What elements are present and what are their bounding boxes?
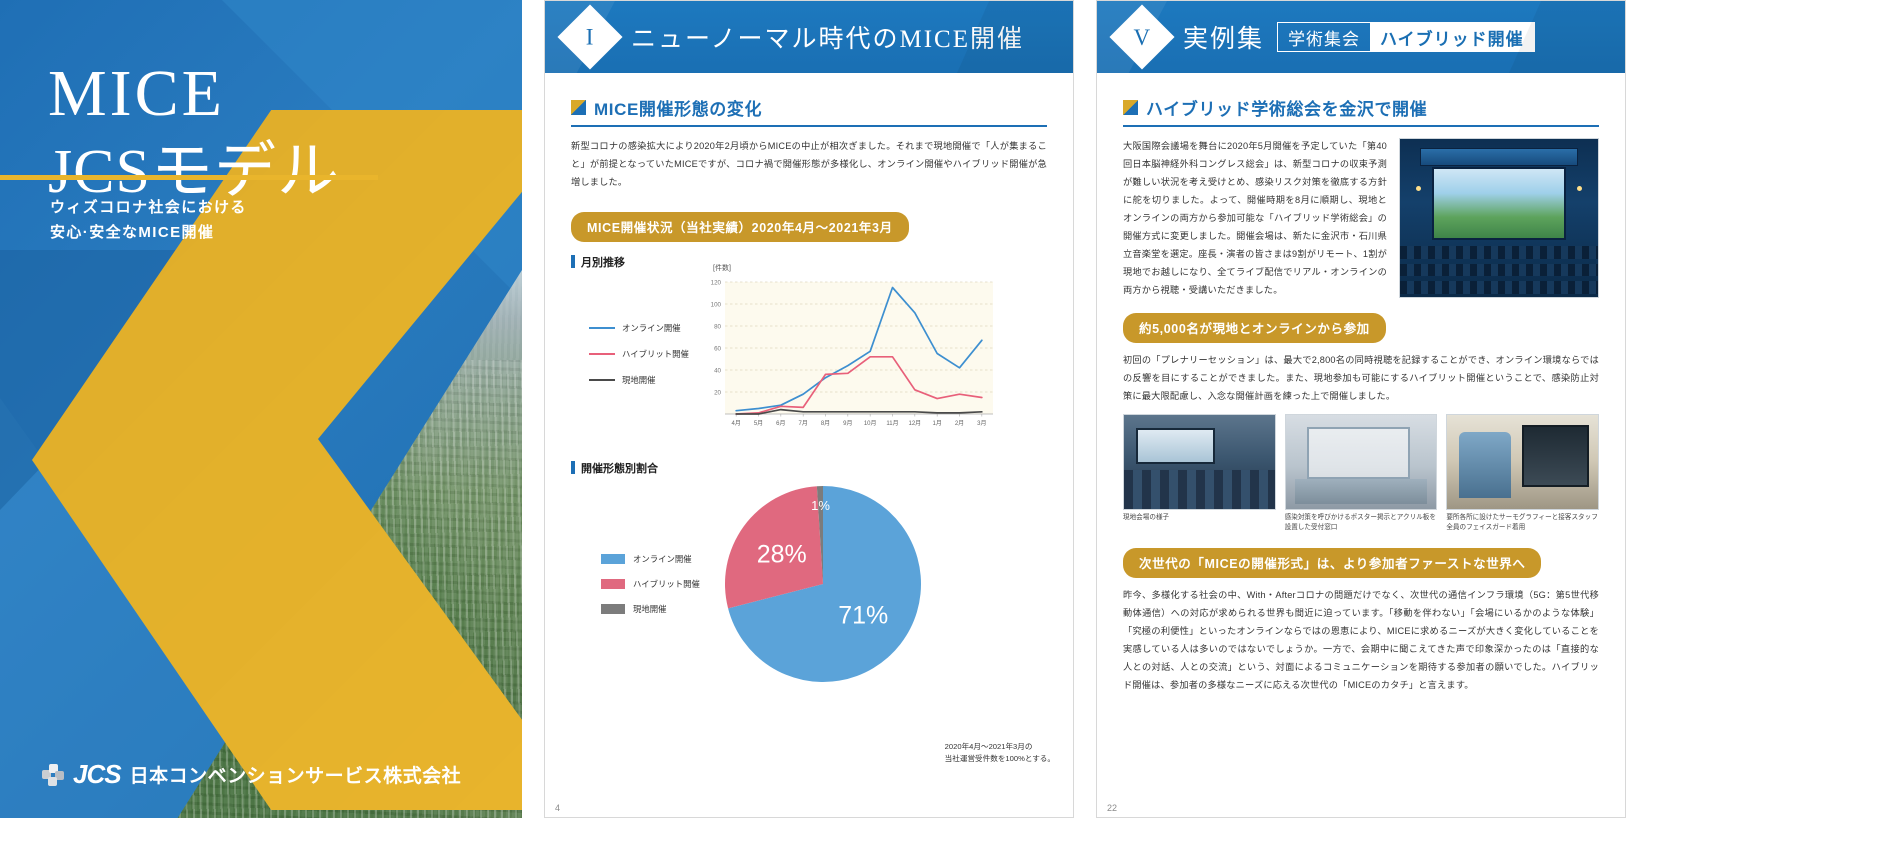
page-mid-header-title: ニューノーマル時代のMICE開催 (631, 19, 1024, 55)
pie-note-line2: 当社運営受件数を100%とする。 (945, 753, 1055, 765)
page-right-header-title: 実例集 (1183, 19, 1264, 55)
legend-label: オンライン開催 (633, 553, 692, 565)
section-body-text: 新型コロナの感染拡大により2020年2月頃からMICEの中止が相次ぎました。それ… (571, 138, 1047, 192)
svg-text:120: 120 (711, 279, 722, 286)
svg-text:11月: 11月 (886, 420, 898, 427)
line-chart-block: オンライン開催 ハイブリット開催 現地開催 [件数] 2040608010012… (571, 274, 1047, 434)
legend-swatch-onsite-icon (601, 604, 625, 614)
section-heading-row: ハイブリッド学術総会を金沢で開催 (1123, 95, 1599, 120)
jcs-clover-icon (42, 764, 64, 786)
cover-subtitle: ウィズコロナ社会における 安心·安全なMICE開催 (50, 196, 247, 246)
chapter-numeral-diamond: I (557, 4, 622, 69)
svg-text:71%: 71% (838, 602, 888, 630)
legend-label: ハイブリット開催 (622, 348, 689, 360)
svg-text:4月: 4月 (731, 420, 740, 427)
chapter-numeral-diamond: V (1109, 4, 1174, 69)
case-body3: 昨今、多様化する社会の中、With・Afterコロナの問題だけでなく、次世代の通… (1123, 587, 1599, 695)
pie-sub-heading: 開催形態別割合 (581, 460, 658, 476)
photo-gallery: 現地会場の様子 感染対策を呼びかけるポスター掲示とアクリル板を設置した受付窓口 … (1123, 414, 1599, 532)
case-intro-body: 大阪国際会議場を舞台に2020年5月開催を予定していた「第40回日本脳神経外科コ… (1123, 138, 1387, 299)
legend-item: ハイブリット開催 (601, 572, 721, 597)
photo-lamp-icon (1577, 186, 1582, 191)
legend-line-hybrid-icon (589, 353, 615, 356)
svg-text:10月: 10月 (864, 420, 877, 427)
legend-label: オンライン開催 (622, 322, 681, 334)
legend-item: 現地開催 (601, 597, 721, 622)
svg-text:6月: 6月 (776, 420, 785, 427)
band3-row: 次世代の「MICEの開催形式」は、より参加者ファーストな世界へ (1123, 548, 1599, 578)
pie-chart-legend: オンライン開催 ハイブリット開催 現地開催 (571, 547, 721, 622)
photo-thermo (1446, 414, 1599, 510)
photo-lamp-icon (1416, 186, 1421, 191)
gallery-item: 感染対策を呼びかけるポスター掲示とアクリル板を設置した受付窓口 (1285, 414, 1438, 532)
photo-seat-row (1400, 246, 1598, 259)
legend-label: ハイブリット開催 (633, 578, 700, 590)
page-number: 4 (555, 803, 560, 813)
pie-chart-block: オンライン開催 ハイブリット開催 現地開催 71%28%1% (571, 482, 1047, 687)
photo-caption: 感染対策を呼びかけるポスター掲示とアクリル板を設置した受付窓口 (1285, 513, 1438, 532)
document-spread: MICE JCSモデル ウィズコロナ社会における 安心·安全なMICE開催 JC… (0, 0, 1886, 857)
legend-item: ハイブリット開催 (589, 341, 699, 367)
page-number: 22 (1107, 803, 1117, 813)
svg-text:20: 20 (714, 389, 721, 396)
line-chart-legend: オンライン開催 ハイブリット開催 現地開催 (571, 315, 699, 393)
pie-sub-heading-row: 開催形態別割合 (571, 460, 1047, 476)
photo-seat-row (1400, 281, 1598, 294)
chapter-numeral: I (586, 25, 594, 48)
band2-label: 約5,000名が現地とオンラインから参加 (1123, 313, 1386, 343)
cover-title-line1: MICE (48, 54, 340, 135)
sub-heading-marker-icon (571, 255, 575, 268)
section-underline (571, 125, 1047, 127)
section-heading: ハイブリッド学術総会を金沢で開催 (1146, 95, 1427, 120)
band3-label: 次世代の「MICEの開催形式」は、より参加者ファーストな世界へ (1123, 548, 1541, 578)
svg-text:60: 60 (714, 345, 721, 352)
photo-caption: 現地会場の様子 (1123, 513, 1276, 523)
svg-text:40: 40 (714, 367, 721, 374)
legend-line-online-icon (589, 327, 615, 330)
cover-subtitle-line2: 安心·安全なMICE開催 (50, 221, 247, 246)
legend-label: 現地開催 (633, 603, 667, 615)
jcs-logo-company: 日本コンベンションサービス株式会社 (130, 761, 462, 788)
sub-heading-marker-icon (571, 461, 575, 474)
page-mid-body: MICE開催形態の変化 新型コロナの感染拡大により2020年2月頃からMICEの… (545, 73, 1073, 818)
photo-reception (1285, 414, 1438, 510)
legend-item: オンライン開催 (589, 315, 699, 341)
legend-swatch-hybrid-icon (601, 579, 625, 589)
svg-text:28%: 28% (757, 540, 807, 568)
cover-title: MICE JCSモデル (48, 54, 340, 210)
header-tag-category: 学術集会 (1278, 23, 1370, 51)
cover-page: MICE JCSモデル ウィズコロナ社会における 安心·安全なMICE開催 JC… (0, 0, 522, 818)
svg-text:1%: 1% (811, 498, 830, 513)
gallery-item: 現地会場の様子 (1123, 414, 1276, 532)
chapter-numeral: V (1134, 26, 1151, 49)
pie-note-line1: 2020年4月〜2021年3月の (945, 741, 1055, 753)
svg-text:5月: 5月 (754, 420, 763, 427)
svg-text:1月: 1月 (932, 420, 941, 427)
line-chart-sub-heading-row: 月別推移 (571, 254, 1047, 270)
page-mid-header: I ニューノーマル時代のMICE開催 (545, 1, 1073, 73)
chart-band-label: MICE開催状況（当社実績）2020年4月〜2021年3月 (571, 212, 909, 242)
cover-gold-rule (0, 175, 378, 180)
photo-stage-screen (1432, 167, 1567, 240)
section-underline (1123, 125, 1599, 127)
header-tag-format: ハイブリッド開催 (1370, 23, 1534, 51)
photo-seat-row (1400, 264, 1598, 277)
legend-item: 現地開催 (589, 367, 699, 393)
photo-caption: 要所各所に設けたサーモグラフィーと接客スタッフ全員のフェイスガード着用 (1446, 513, 1599, 532)
legend-swatch-online-icon (601, 554, 625, 564)
svg-text:80: 80 (714, 323, 721, 330)
case-intro-row: 大阪国際会議場を舞台に2020年5月開催を予定していた「第40回日本脳神経外科コ… (1123, 138, 1599, 299)
pie-chart-note: 2020年4月〜2021年3月の 当社運営受件数を100%とする。 (945, 741, 1055, 765)
legend-label: 現地開催 (622, 374, 656, 386)
photo-banner (1420, 148, 1578, 165)
section-heading: MICE開催形態の変化 (594, 95, 762, 120)
gutter-right (1074, 0, 1096, 857)
jcs-logo-abbr: JCS (73, 759, 121, 790)
jcs-logo: JCS 日本コンベンションサービス株式会社 (42, 759, 461, 790)
cover-subtitle-line1: ウィズコロナ社会における (50, 196, 247, 221)
page-right-header: V 実例集 学術集会 ハイブリッド開催 (1097, 1, 1625, 73)
line-chart-svg: 204060801001204月5月6月7月8月9月10月11月12月1月2月3… (699, 274, 999, 434)
section-marker-icon (571, 100, 586, 115)
legend-item: オンライン開催 (601, 547, 721, 572)
gallery-item: 要所各所に設けたサーモグラフィーと接客スタッフ全員のフェイスガード着用 (1446, 414, 1599, 532)
header-tag-group: 学術集会 ハイブリッド開催 (1277, 22, 1535, 52)
line-chart-sub-heading: 月別推移 (581, 254, 625, 270)
svg-text:100: 100 (711, 301, 722, 308)
page-right-body: ハイブリッド学術総会を金沢で開催 大阪国際会議場を舞台に2020年5月開催を予定… (1097, 73, 1625, 818)
line-chart-plot: [件数] 204060801001204月5月6月7月8月9月10月11月12月… (699, 274, 1047, 434)
page-right: V 実例集 学術集会 ハイブリッド開催 ハイブリッド学術総会を金沢で開催 大阪国… (1096, 0, 1626, 818)
svg-text:2月: 2月 (955, 420, 964, 427)
gutter-left (522, 0, 544, 857)
legend-line-onsite-icon (589, 379, 615, 382)
photo-main-hall (1399, 138, 1599, 298)
section-heading-row: MICE開催形態の変化 (571, 95, 1047, 120)
svg-text:7月: 7月 (798, 420, 807, 427)
svg-text:12月: 12月 (908, 420, 921, 427)
pie-chart-svg: 71%28%1% (721, 482, 926, 687)
band2-row: 約5,000名が現地とオンラインから参加 (1123, 313, 1599, 343)
photo-venue (1123, 414, 1276, 510)
svg-text:3月: 3月 (977, 420, 986, 427)
line-chart-unit-label: [件数] (713, 263, 731, 273)
chart-band-row: MICE開催状況（当社実績）2020年4月〜2021年3月 (571, 212, 1047, 242)
case-intro-text-col: 大阪国際会議場を舞台に2020年5月開催を予定していた「第40回日本脳神経外科コ… (1123, 138, 1387, 299)
svg-text:9月: 9月 (843, 420, 852, 427)
section-marker-icon (1123, 100, 1138, 115)
svg-text:8月: 8月 (821, 420, 830, 427)
case-body2: 初回の「プレナリーセッション」は、最大で2,800名の同時視聴を記録することがで… (1123, 352, 1599, 406)
page-mid: I ニューノーマル時代のMICE開催 MICE開催形態の変化 新型コロナの感染拡… (544, 0, 1074, 818)
